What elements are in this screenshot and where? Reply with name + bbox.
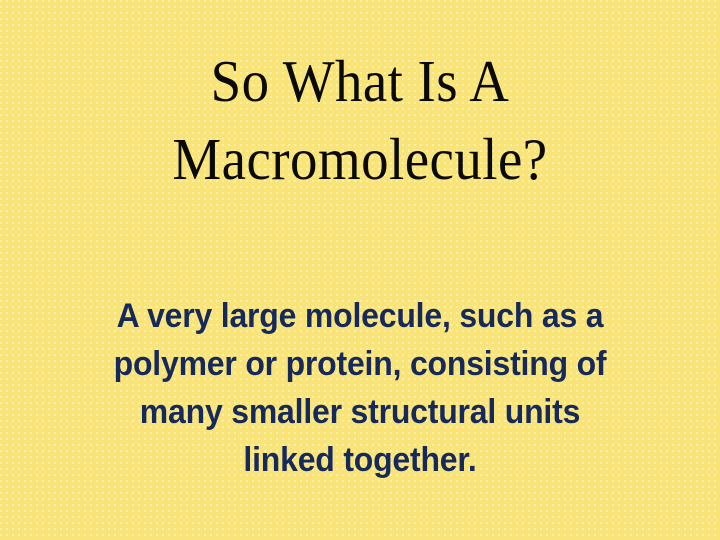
title-line-2: Macromolecule? <box>25 120 695 198</box>
title-line-1: So What Is A <box>25 42 695 120</box>
slide-body-text: A very large molecule, such as a polymer… <box>0 292 720 484</box>
body-line-2: polymer or protein, consisting of <box>22 340 699 388</box>
slide-canvas: So What Is A Macromolecule? A very large… <box>0 0 720 540</box>
slide-title: So What Is A Macromolecule? <box>0 42 720 198</box>
body-line-3: many smaller structural units <box>22 388 699 436</box>
body-line-1: A very large molecule, such as a <box>22 292 699 340</box>
body-line-4: linked together. <box>22 436 699 484</box>
